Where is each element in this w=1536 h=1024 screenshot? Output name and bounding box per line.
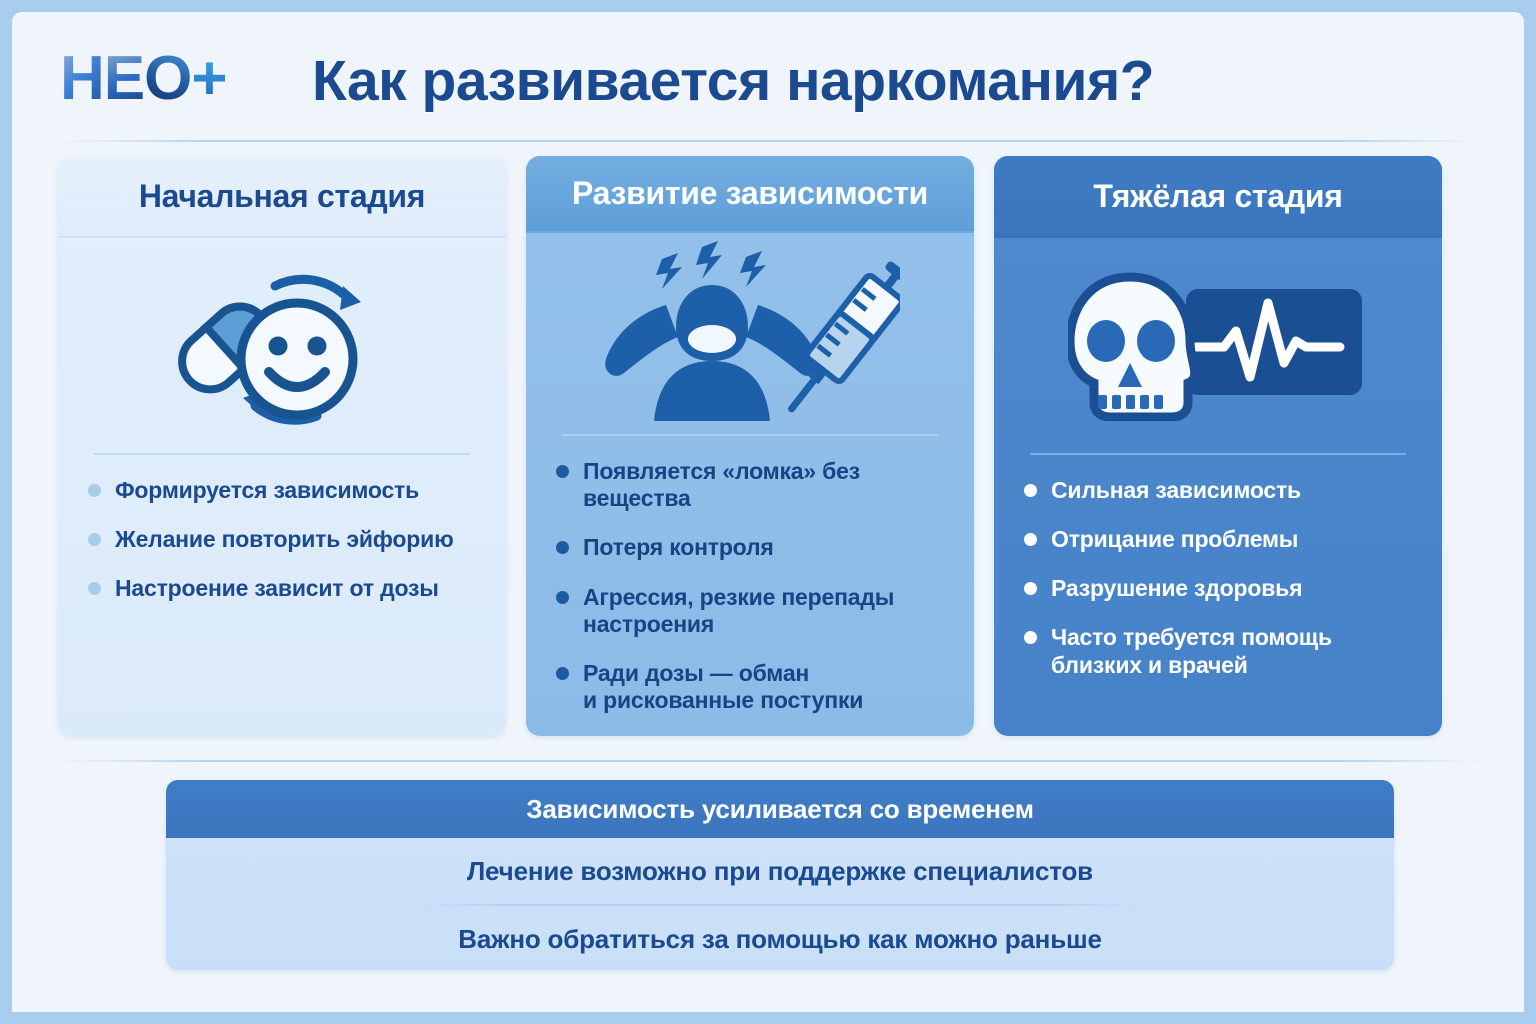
list-item: Формируется зависимость: [88, 477, 476, 504]
list-item-label: Разрушение здоровья: [1051, 575, 1302, 602]
list-item-label: Появляется «ломка» без вещества: [583, 458, 944, 512]
list-item: Часто требуется помощь близких и врачей: [1024, 624, 1412, 678]
stage-cards: Начальная стадия: [58, 156, 1498, 736]
footer-line-1: Лечение возможно при поддержке специалис…: [166, 838, 1394, 904]
logo-letter-o: O: [144, 44, 191, 113]
list-item-label: Агрессия, резкие перепады настроения: [583, 584, 944, 638]
stage-card-severe-title: Тяжёлая стадия: [994, 156, 1442, 236]
bullet-dot-icon: [556, 667, 569, 680]
header: HEO+ Как развивается наркомания?: [12, 12, 1524, 134]
list-item: Агрессия, резкие перепады настроения: [556, 584, 944, 638]
bullet-dot-icon: [88, 484, 101, 497]
footer-headline: Зависимость усиливается со временем: [166, 780, 1394, 838]
list-item: Появляется «ломка» без вещества: [556, 458, 944, 512]
footer-line-2: Важно обратиться за помощью как можно ра…: [166, 906, 1394, 970]
list-item: Отрицание проблемы: [1024, 526, 1412, 553]
stage-card-development[interactable]: Развитие зависимости: [526, 156, 974, 736]
list-item-label: Формируется зависимость: [115, 477, 419, 504]
infographic-frame: HEO+ Как развивается наркомания? Начальн…: [12, 12, 1524, 1012]
stage-card-initial[interactable]: Начальная стадия: [58, 156, 506, 736]
logo-letter-h: H: [60, 44, 104, 113]
stage-card-initial-list: Формируется зависимость Желание повторит…: [58, 455, 506, 736]
page-title: Как развивается наркомания?: [312, 48, 1154, 114]
logo-plus-icon: +: [191, 44, 226, 113]
list-item: Желание повторить эйфорию: [88, 526, 476, 553]
bullet-dot-icon: [88, 582, 101, 595]
list-item: Ради дозы — обман и рискованные поступки: [556, 660, 944, 714]
stage-card-development-title: Развитие зависимости: [526, 156, 974, 231]
bullet-dot-icon: [88, 533, 101, 546]
list-item-label: Желание повторить эйфорию: [115, 526, 454, 553]
logo-letter-e: E: [104, 44, 144, 113]
list-item: Настроение зависит от дозы: [88, 575, 476, 602]
bullet-dot-icon: [1024, 631, 1037, 644]
list-item: Разрушение здоровья: [1024, 575, 1412, 602]
footer-panel: Зависимость усиливается со временем Лече…: [166, 780, 1394, 970]
list-item-label: Настроение зависит от дозы: [115, 575, 439, 602]
stage-card-initial-title: Начальная стадия: [58, 156, 506, 236]
bullet-dot-icon: [1024, 484, 1037, 497]
list-item-label: Ради дозы — обман и рискованные поступки: [583, 660, 863, 714]
list-item-label: Потеря контроля: [583, 534, 774, 561]
bullet-dot-icon: [1024, 582, 1037, 595]
footer-divider: [58, 760, 1482, 762]
list-item: Потеря контроля: [556, 534, 944, 561]
bullet-dot-icon: [556, 465, 569, 478]
pill-smiley-cycle-icon: [58, 238, 506, 453]
bullet-dot-icon: [556, 591, 569, 604]
list-item: Сильная зависимость: [1024, 477, 1412, 504]
bullet-dot-icon: [556, 541, 569, 554]
stage-card-severe-list: Сильная зависимость Отрицание проблемы Р…: [994, 455, 1442, 736]
brand-logo: HEO+: [60, 48, 227, 110]
list-item-label: Сильная зависимость: [1051, 477, 1301, 504]
list-item-label: Отрицание проблемы: [1051, 526, 1298, 553]
distressed-person-syringe-icon: [526, 233, 974, 434]
list-item-label: Часто требуется помощь близких и врачей: [1051, 624, 1332, 678]
stage-card-severe[interactable]: Тяжёлая стадия: [994, 156, 1442, 736]
header-divider: [58, 140, 1482, 142]
bullet-dot-icon: [1024, 533, 1037, 546]
skull-ecg-icon: [994, 238, 1442, 453]
stage-card-development-list: Появляется «ломка» без вещества Потеря к…: [526, 436, 974, 736]
